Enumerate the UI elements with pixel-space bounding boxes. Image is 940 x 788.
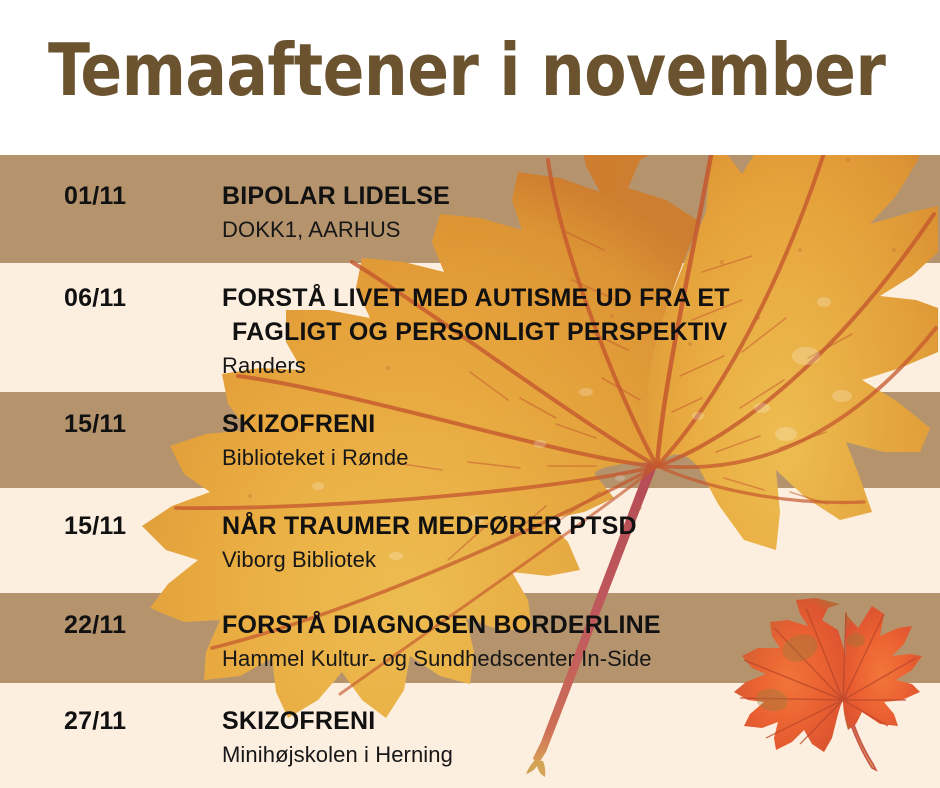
row-band-6 [0, 683, 940, 788]
band-stack [0, 155, 940, 788]
row-band-1 [0, 155, 940, 263]
poster-canvas: Temaaftener i november 01/11 BIPOLAR LID… [0, 0, 940, 788]
row-band-3 [0, 392, 940, 488]
row-band-2 [0, 263, 940, 392]
page-title: Temaaftener i november [48, 24, 865, 116]
row-band-5 [0, 593, 940, 683]
title-bar: Temaaftener i november [0, 0, 940, 155]
row-band-4 [0, 488, 940, 593]
